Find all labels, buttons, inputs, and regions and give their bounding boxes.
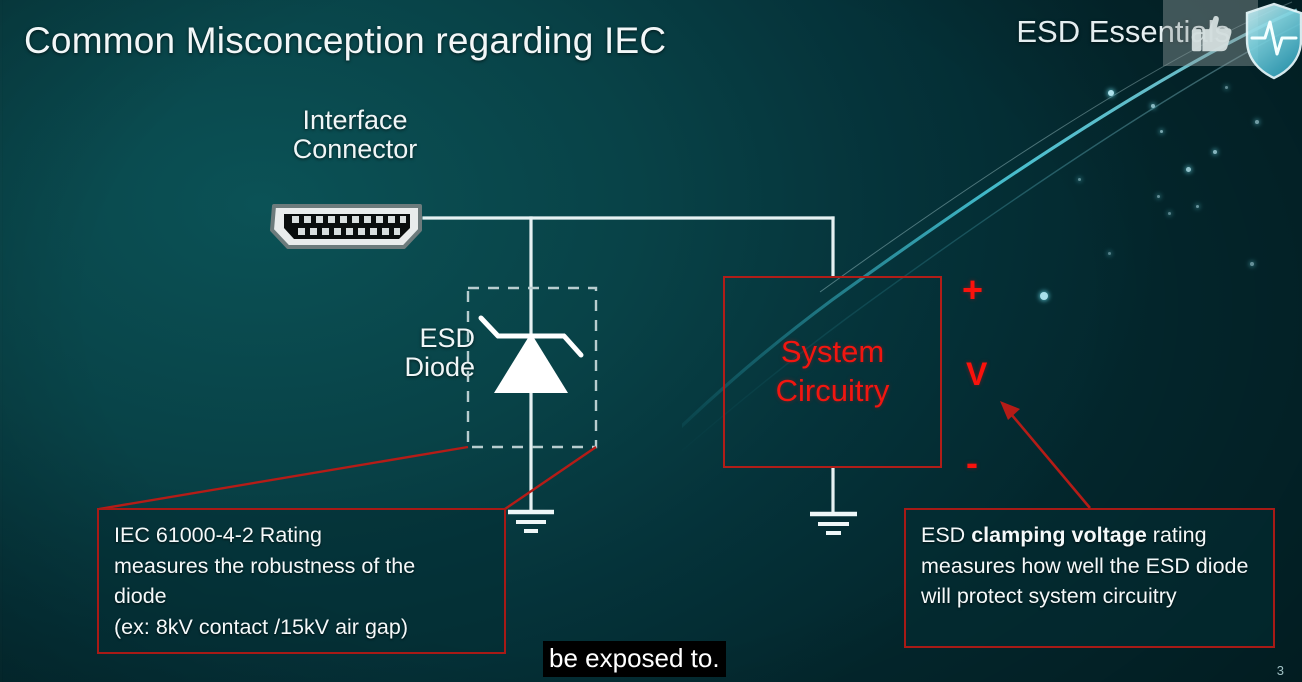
system-circuitry-line2: Circuitry xyxy=(776,372,890,411)
ground-symbol-icon xyxy=(810,514,857,533)
slide-canvas: Common Misconception regarding IEC ESD E… xyxy=(0,0,1302,682)
page-number: 3 xyxy=(1277,663,1284,678)
video-caption: be exposed to. xyxy=(543,641,726,677)
callout-right-emphasis: clamping voltage xyxy=(971,523,1147,547)
callout-left-line4: (ex: 8kV contact /15kV air gap) xyxy=(114,612,490,643)
callout-right-prefix: ESD xyxy=(921,523,971,547)
system-circuitry-line1: System xyxy=(781,333,884,372)
voltage-minus-marker: - xyxy=(966,442,978,484)
callout-left-line1: IEC 61000-4-2 Rating xyxy=(114,520,490,551)
callout-right-arrow xyxy=(1000,401,1090,508)
voltage-plus-marker: + xyxy=(962,269,983,311)
ground-symbol-icon xyxy=(508,512,554,531)
callout-left-line2: measures the robustness of the xyxy=(114,551,490,582)
hdmi-connector-icon xyxy=(268,202,426,252)
callout-clamping-voltage: ESD clamping voltage rating measures how… xyxy=(904,508,1275,648)
callout-left-line3: diode xyxy=(114,581,490,612)
callout-left-leader xyxy=(99,447,596,509)
voltage-v-marker: V xyxy=(966,356,987,393)
callout-iec-rating: IEC 61000-4-2 Rating measures the robust… xyxy=(97,508,506,654)
system-circuitry-block: System Circuitry xyxy=(723,276,942,468)
